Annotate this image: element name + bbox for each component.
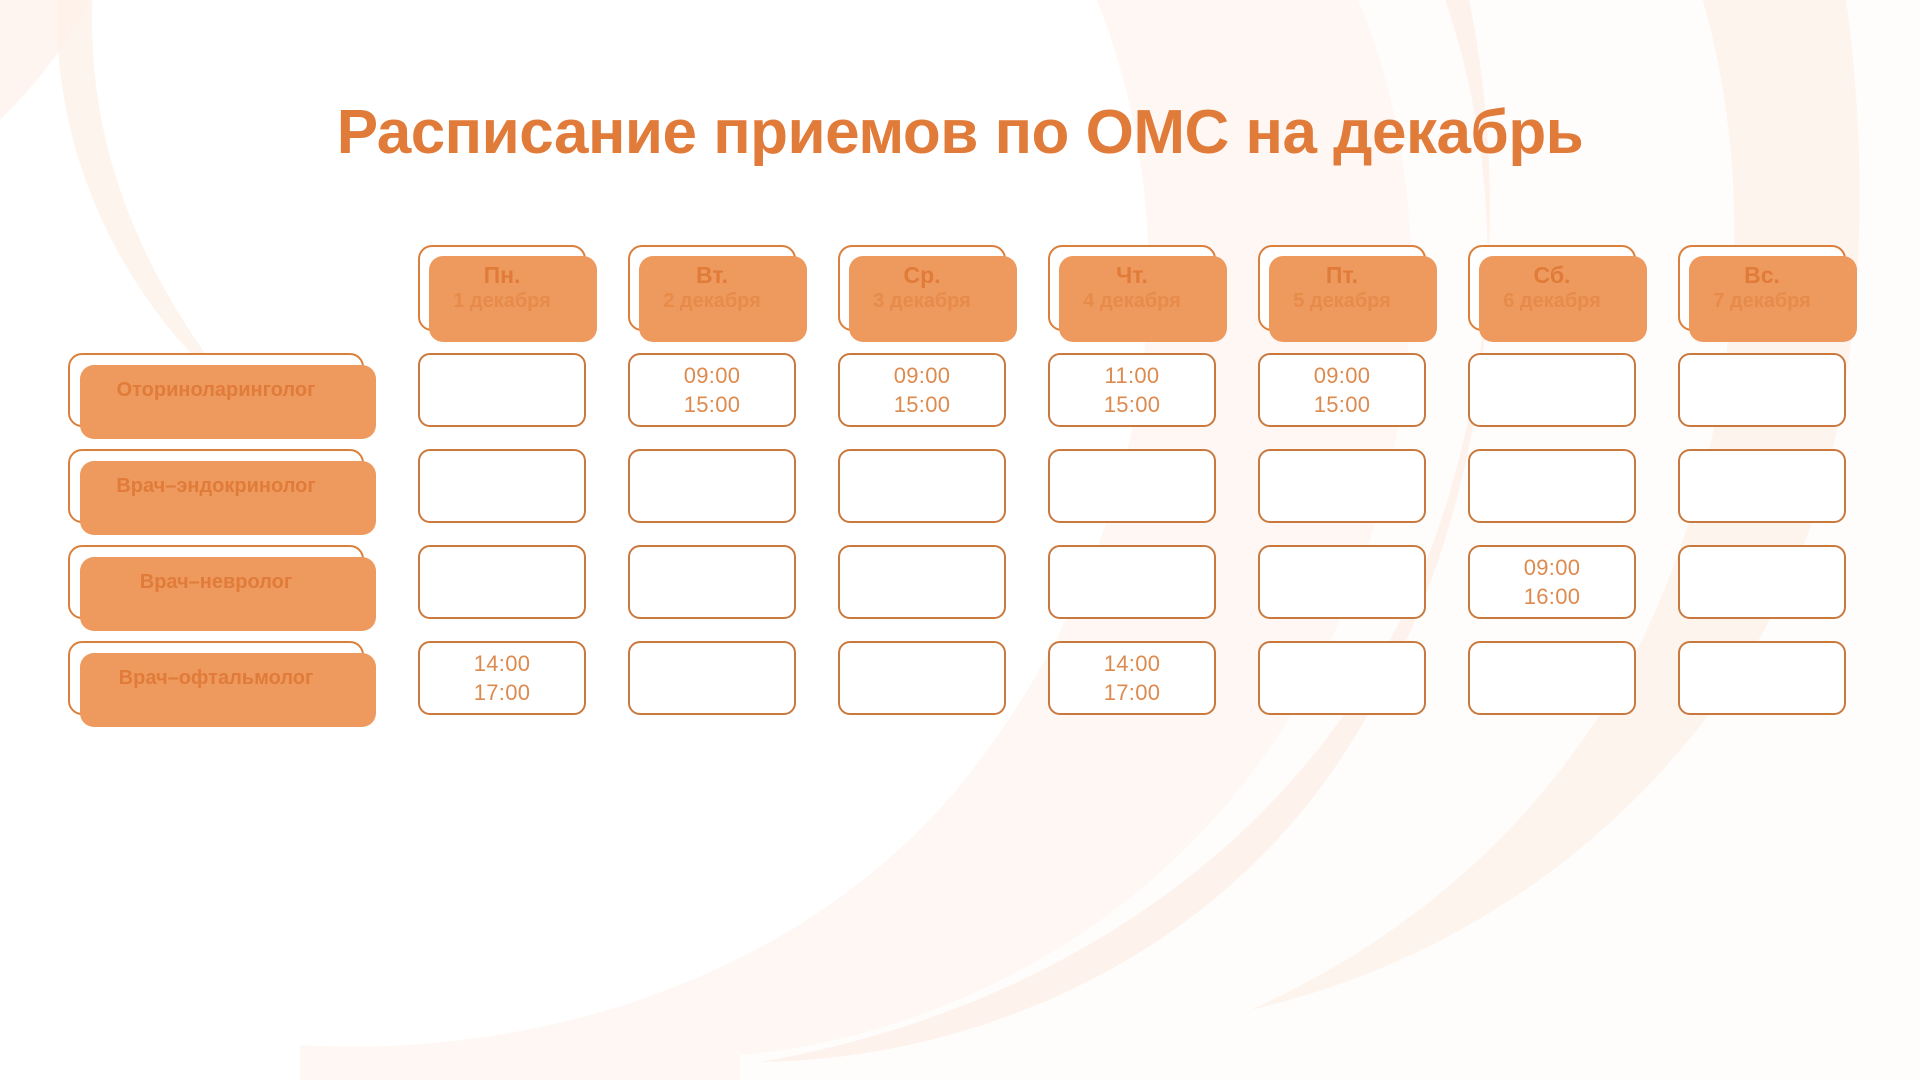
specialty-label: Врач–эндокринолог [116, 474, 315, 499]
time-slot-cell[interactable]: 14:0017:00 [1048, 641, 1216, 715]
time-slot-cell[interactable]: 09:0016:00 [1468, 545, 1636, 619]
time-slot-cell-empty[interactable] [1258, 545, 1426, 619]
specialty-label-cell: Врач–невролог [68, 545, 378, 619]
page-title: Расписание приемов по ОМС на декабрь [0, 96, 1920, 170]
day-header-card[interactable]: Вт.2 декабря [628, 245, 796, 331]
day-of-week-label: Вс. [1744, 262, 1780, 289]
schedule-body: Оториноларинголог09:0015:0009:0015:0011:… [68, 353, 1858, 715]
schedule-row: Врач–офтальмолог14:0017:0014:0017:00 [68, 641, 1858, 715]
specialty-card[interactable]: Оториноларинголог [68, 353, 364, 427]
day-date-label: 3 декабря [873, 289, 971, 314]
day-of-week-label: Сб. [1534, 262, 1571, 289]
time-slot-cell-empty[interactable] [1468, 449, 1636, 523]
time-slot-cell[interactable]: 09:0015:00 [1258, 353, 1426, 427]
time-slot-cell[interactable]: 11:0015:00 [1048, 353, 1216, 427]
day-header-row: Пн.1 декабряВт.2 декабряСр.3 декабряЧт.4… [68, 245, 1858, 331]
time-value: 15:00 [894, 390, 951, 419]
time-slot-cell-empty[interactable] [418, 545, 586, 619]
time-value: 14:00 [1104, 649, 1161, 678]
time-value: 11:00 [1105, 361, 1160, 390]
day-of-week-label: Ср. [903, 262, 940, 289]
time-slot-cell-empty[interactable] [1048, 449, 1216, 523]
specialty-label-cell: Врач–офтальмолог [68, 641, 378, 715]
time-value: 17:00 [474, 678, 531, 707]
day-of-week-label: Вт. [696, 262, 728, 289]
day-header-list: Пн.1 декабряВт.2 декабряСр.3 декабряЧт.4… [418, 245, 1846, 331]
specialty-label: Оториноларинголог [117, 378, 316, 403]
time-slot-cell-empty[interactable] [1468, 641, 1636, 715]
day-header-card[interactable]: Вс.7 декабря [1678, 245, 1846, 331]
specialty-label: Врач–невролог [140, 570, 292, 595]
time-slot-cell-empty[interactable] [628, 545, 796, 619]
time-slot-cell-empty[interactable] [1048, 545, 1216, 619]
time-slot-cell-empty[interactable] [1258, 449, 1426, 523]
time-slot-cell-empty[interactable] [418, 353, 586, 427]
grid-corner-spacer [68, 245, 378, 331]
time-slot-cell-empty[interactable] [628, 449, 796, 523]
time-value: 09:00 [1524, 553, 1581, 582]
day-of-week-label: Пн. [484, 262, 521, 289]
day-header-card[interactable]: Пт.5 декабря [1258, 245, 1426, 331]
time-slot-cell-empty[interactable] [1468, 353, 1636, 427]
day-header-card[interactable]: Пн.1 декабря [418, 245, 586, 331]
time-slot-cell-empty[interactable] [838, 545, 1006, 619]
time-slot-cell-empty[interactable] [1678, 545, 1846, 619]
specialty-label: Врач–офтальмолог [119, 666, 314, 691]
time-slot-cell-empty[interactable] [418, 449, 586, 523]
day-date-label: 7 декабря [1713, 289, 1811, 314]
time-slot-cell-empty[interactable] [628, 641, 796, 715]
time-slot-cell[interactable]: 09:0015:00 [628, 353, 796, 427]
specialty-card[interactable]: Врач–невролог [68, 545, 364, 619]
time-value: 09:00 [894, 361, 951, 390]
day-date-label: 4 декабря [1083, 289, 1181, 314]
time-value: 15:00 [1314, 390, 1371, 419]
time-slot-cell-empty[interactable] [1678, 449, 1846, 523]
time-value: 14:00 [474, 649, 531, 678]
schedule-row: Врач–эндокринолог [68, 449, 1858, 523]
specialty-card[interactable]: Врач–эндокринолог [68, 449, 364, 523]
time-value: 15:00 [1104, 390, 1161, 419]
time-slot-cell-empty[interactable] [1678, 353, 1846, 427]
specialty-label-cell: Оториноларинголог [68, 353, 378, 427]
day-header-card[interactable]: Сб.6 декабря [1468, 245, 1636, 331]
day-date-label: 1 декабря [453, 289, 551, 314]
time-slot-cell[interactable]: 14:0017:00 [418, 641, 586, 715]
day-date-label: 5 декабря [1293, 289, 1391, 314]
time-slot-list: 09:0016:00 [418, 545, 1846, 619]
time-value: 09:00 [1314, 361, 1371, 390]
time-value: 17:00 [1104, 678, 1161, 707]
day-of-week-label: Пт. [1326, 262, 1358, 289]
schedule-page: Расписание приемов по ОМС на декабрь Пн.… [0, 0, 1920, 1080]
day-date-label: 6 декабря [1503, 289, 1601, 314]
time-slot-cell-empty[interactable] [838, 641, 1006, 715]
day-date-label: 2 декабря [663, 289, 761, 314]
time-slot-list [418, 449, 1846, 523]
day-header-card[interactable]: Чт.4 декабря [1048, 245, 1216, 331]
schedule-row: Врач–невролог09:0016:00 [68, 545, 1858, 619]
schedule-grid: Пн.1 декабряВт.2 декабряСр.3 декабряЧт.4… [68, 245, 1858, 715]
schedule-row: Оториноларинголог09:0015:0009:0015:0011:… [68, 353, 1858, 427]
time-slot-cell-empty[interactable] [1258, 641, 1426, 715]
time-slot-cell-empty[interactable] [1678, 641, 1846, 715]
day-of-week-label: Чт. [1116, 262, 1148, 289]
time-slot-list: 14:0017:0014:0017:00 [418, 641, 1846, 715]
time-value: 15:00 [684, 390, 741, 419]
time-value: 16:00 [1524, 582, 1581, 611]
specialty-card[interactable]: Врач–офтальмолог [68, 641, 364, 715]
specialty-label-cell: Врач–эндокринолог [68, 449, 378, 523]
time-value: 09:00 [684, 361, 741, 390]
time-slot-cell[interactable]: 09:0015:00 [838, 353, 1006, 427]
day-header-card[interactable]: Ср.3 декабря [838, 245, 1006, 331]
time-slot-cell-empty[interactable] [838, 449, 1006, 523]
time-slot-list: 09:0015:0009:0015:0011:0015:0009:0015:00 [418, 353, 1846, 427]
